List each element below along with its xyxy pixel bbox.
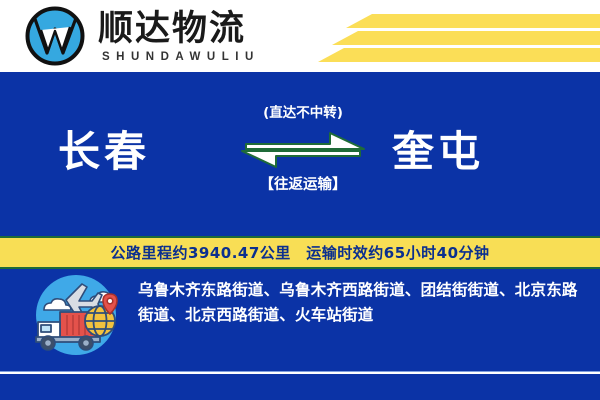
logistics-truck-plane-globe-icon bbox=[22, 274, 130, 356]
double-headed-arrow-icon bbox=[238, 130, 368, 170]
coverage-area-section: 乌鲁木齐东路街道、乌鲁木齐西路街道、团结街街道、北京东路街道、北京西路街道、火车… bbox=[0, 272, 600, 372]
main-blue-panel: 长春 (直达不中转) 【往返运输】 奎屯 公路里程约3940.47公里 运输时效… bbox=[0, 72, 600, 400]
brand-logo: 顺达物流 SHUNDAWULIU bbox=[24, 5, 260, 67]
destination-city: 奎屯 bbox=[392, 124, 484, 180]
roundtrip-note: 【往返运输】 bbox=[233, 174, 373, 196]
route-display: 长春 (直达不中转) 【往返运输】 奎屯 bbox=[0, 102, 600, 222]
brand-name-en: SHUNDAWULIU bbox=[98, 50, 260, 65]
bottom-divider bbox=[0, 371, 600, 374]
coverage-area-list: 乌鲁木齐东路街道、乌鲁木齐西路街道、团结街街道、北京东路街道、北京西路街道、火车… bbox=[138, 278, 580, 328]
logistics-route-banner: 顺达物流 SHUNDAWULIU 长春 (直达不中转) bbox=[0, 0, 600, 400]
origin-city: 长春 bbox=[58, 124, 150, 180]
direct-shipping-note: (直达不中转) bbox=[233, 102, 373, 124]
decorative-yellow-stripes bbox=[300, 6, 600, 68]
brand-name-cn: 顺达物流 bbox=[98, 8, 260, 50]
brand-text: 顺达物流 SHUNDAWULIU bbox=[98, 8, 260, 65]
banner-header: 顺达物流 SHUNDAWULIU bbox=[0, 0, 600, 72]
route-middle: (直达不中转) 【往返运输】 bbox=[233, 102, 373, 222]
distance-duration-bar: 公路里程约3940.47公里 运输时效约65小时40分钟 bbox=[0, 236, 600, 269]
distance-duration-text: 公路里程约3940.47公里 运输时效约65小时40分钟 bbox=[110, 242, 489, 263]
shunda-w-circle-logo-icon bbox=[24, 5, 86, 67]
